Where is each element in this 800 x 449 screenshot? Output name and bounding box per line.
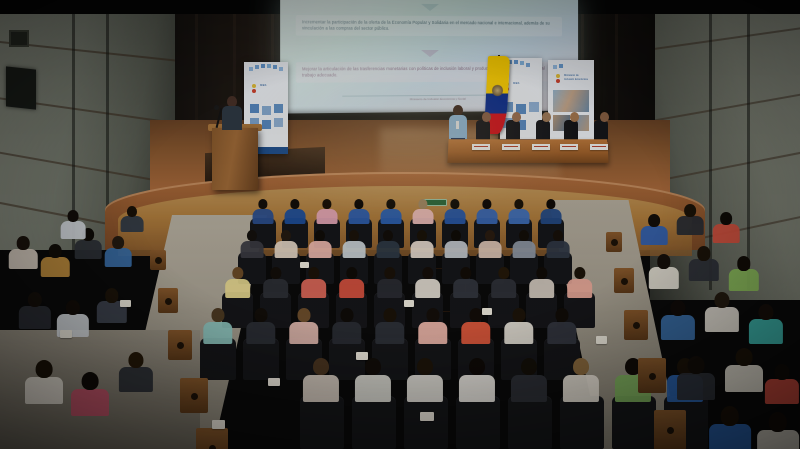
auditorium-seat (243, 338, 279, 380)
presenter (222, 96, 242, 130)
name-card-1 (472, 144, 490, 150)
audience-member (444, 199, 466, 224)
podium (212, 128, 258, 190)
audience-member (300, 267, 327, 298)
side-person-r10 (676, 356, 716, 400)
audience-member (490, 267, 517, 298)
side-person-l2 (40, 244, 70, 277)
auditorium-seat (508, 396, 552, 449)
audience-member (202, 308, 233, 344)
side-person-r14 (756, 412, 800, 449)
chevron-down-icon (421, 4, 439, 11)
auditorium-seat (404, 396, 448, 449)
side-person-r5 (688, 246, 720, 281)
side-person-l12 (120, 206, 144, 232)
paper-3 (482, 308, 492, 315)
audience-member (316, 199, 338, 224)
auditorium-seat (300, 396, 344, 449)
audience-member (458, 358, 496, 402)
side-person-r1 (640, 214, 668, 245)
ecuador-coat-of-arms-icon (492, 84, 503, 97)
wall-speaker-icon (6, 66, 36, 109)
side-person-l5 (18, 292, 52, 329)
audience-member (528, 267, 555, 298)
audience-member (406, 358, 444, 402)
side-person-l10 (118, 352, 154, 392)
side-person-r9 (748, 304, 784, 344)
name-card-4 (560, 144, 578, 150)
seat-armrest (150, 250, 166, 270)
audience-member (508, 199, 530, 224)
auditorium-seat (612, 396, 656, 449)
auditorium-seat (456, 396, 500, 449)
audience-member (288, 308, 319, 344)
auditorium-seat (200, 338, 236, 380)
side-person-r13 (708, 406, 752, 449)
side-person-r2 (676, 204, 704, 235)
audience-member (380, 199, 402, 224)
side-person-r7 (660, 300, 696, 340)
audience-member (252, 199, 274, 224)
audience-member (452, 267, 479, 298)
side-person-l4 (104, 236, 132, 267)
side-person-r3 (712, 212, 740, 243)
audience-member (262, 267, 289, 298)
audience-member (510, 358, 548, 402)
panel-table (447, 139, 608, 163)
seat-armrest (654, 410, 686, 449)
audience-member (546, 308, 577, 344)
seat-armrest (614, 268, 634, 293)
slide-text-1: Incrementar la participación de la ofert… (302, 19, 556, 33)
audience-member (342, 230, 366, 258)
side-person-r11 (724, 348, 764, 392)
audience-member (274, 230, 298, 258)
paper-4 (356, 352, 368, 360)
audience-member (414, 267, 441, 298)
audience-member (354, 358, 392, 402)
audience-member (478, 230, 502, 258)
seat-armrest (180, 378, 208, 413)
side-person-l1 (8, 236, 38, 269)
auditorium-seat (560, 396, 604, 449)
seat-armrest (196, 428, 228, 449)
audience-member (224, 267, 251, 298)
seat-armrest (168, 330, 192, 360)
audience-member (444, 230, 468, 258)
audience-member (503, 308, 534, 344)
audience-member (512, 230, 536, 258)
microphone-head-icon (214, 105, 219, 110)
paper-9 (420, 412, 434, 421)
auditorium-photo: Incrementar la participación de la ofert… (0, 0, 800, 449)
side-person-r8 (704, 292, 740, 332)
wall-bracket-icon (9, 30, 29, 47)
audience-member (376, 267, 403, 298)
audience-member (348, 199, 370, 224)
audience-member (331, 308, 362, 344)
audience-member (284, 199, 306, 224)
seat-armrest (606, 232, 622, 252)
slide-text-block-1: Incrementar la participación de la ofert… (296, 15, 562, 37)
audience-member (546, 230, 570, 258)
audience-member (566, 267, 593, 298)
audience-member (417, 308, 448, 344)
side-person-r6 (728, 256, 760, 291)
paper-5 (268, 378, 280, 386)
audience-member (338, 267, 365, 298)
auditorium-seat (352, 396, 396, 449)
audience-member (476, 199, 498, 224)
chevron-down-icon-2 (421, 50, 439, 57)
name-card-3 (532, 144, 550, 150)
name-card-2 (502, 144, 520, 150)
paper-10 (212, 420, 225, 429)
audience-member (308, 230, 332, 258)
paper-2 (404, 300, 414, 307)
audience-member (376, 230, 400, 258)
side-person-r12 (764, 364, 800, 404)
side-person-l8 (24, 360, 64, 404)
banner-photo-1 (553, 90, 589, 112)
audience-member (562, 358, 600, 402)
seat-armrest (624, 310, 648, 340)
seat-armrest (638, 358, 666, 393)
side-person-l9 (70, 372, 110, 416)
seat-armrest (158, 288, 178, 313)
audience-member (302, 358, 340, 402)
audience-member (240, 230, 264, 258)
audience-member (540, 199, 562, 224)
name-card-5 (590, 144, 608, 150)
side-person-l11 (60, 210, 86, 239)
paper-6 (596, 336, 607, 344)
audience-member (410, 230, 434, 258)
audience-member (412, 199, 434, 224)
side-person-r4 (648, 254, 680, 289)
paper-7 (120, 300, 131, 307)
paper-1 (300, 262, 309, 268)
audience-member (245, 308, 276, 344)
paper-8 (60, 330, 72, 338)
audience-member (374, 308, 405, 344)
